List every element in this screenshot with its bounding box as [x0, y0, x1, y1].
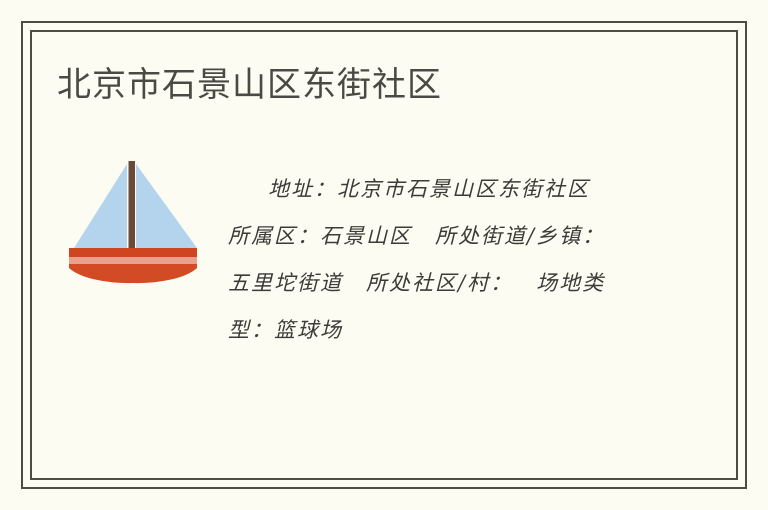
venue-info-card: 北京市石景山区东街社区 地址：北京市石景山区东街社区 所属区：石景山区 所处街道… — [0, 0, 768, 510]
venue-details-text: 地址：北京市石景山区东街社区 所属区：石景山区 所处街道/乡镇：五里坨街道 所处… — [228, 166, 614, 354]
page-title: 北京市石景山区东街社区 — [57, 64, 442, 106]
sailboat-icon — [62, 152, 204, 290]
